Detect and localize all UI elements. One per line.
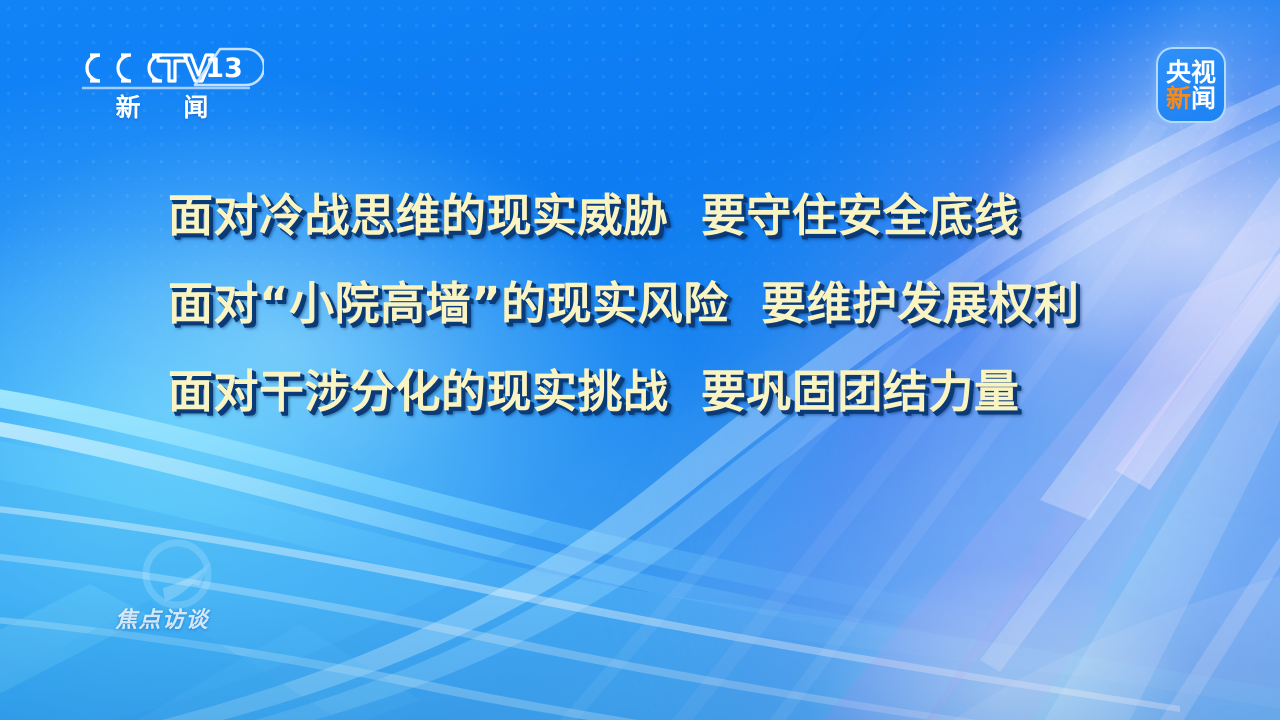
cctv-news-badge: 央视 新 闻 <box>1156 47 1226 123</box>
cctv-channel-subtitle: 新 闻 <box>74 95 250 120</box>
badge-line-yangshi: 央视 <box>1166 60 1216 85</box>
cctv-wordmark-icon: 13 <box>74 44 264 92</box>
headline-line-1: 面对冷战思维的现实威胁 要守住安全底线 <box>168 193 1178 238</box>
headline-line-2: 面对“小院高墙”的现实风险 要维护发展权利 <box>168 281 1178 326</box>
focus-swoosh-icon <box>133 538 225 616</box>
badge-text-yangshi: 央视 <box>1166 60 1216 85</box>
broadcast-frame: 13 新 闻 央视 新 闻 面对冷战思维的现实威胁 要守住安全底线 面对“小院高… <box>0 0 1280 720</box>
cctv13-channel-logo: 13 新 闻 <box>74 44 274 136</box>
headline-line-3: 面对干涉分化的现实挑战 要巩固团结力量 <box>168 369 1178 414</box>
badge-line-xinwen: 新 闻 <box>1166 86 1216 111</box>
headline-block: 面对冷战思维的现实威胁 要守住安全底线 面对“小院高墙”的现实风险 要维护发展权… <box>168 193 1178 414</box>
program-watermark-label: 焦点访谈 <box>115 610 280 632</box>
badge-text-wen: 闻 <box>1191 86 1216 111</box>
program-watermark: 焦点访谈 <box>115 538 280 643</box>
svg-text:13: 13 <box>205 53 243 84</box>
badge-text-xin: 新 <box>1166 86 1191 111</box>
